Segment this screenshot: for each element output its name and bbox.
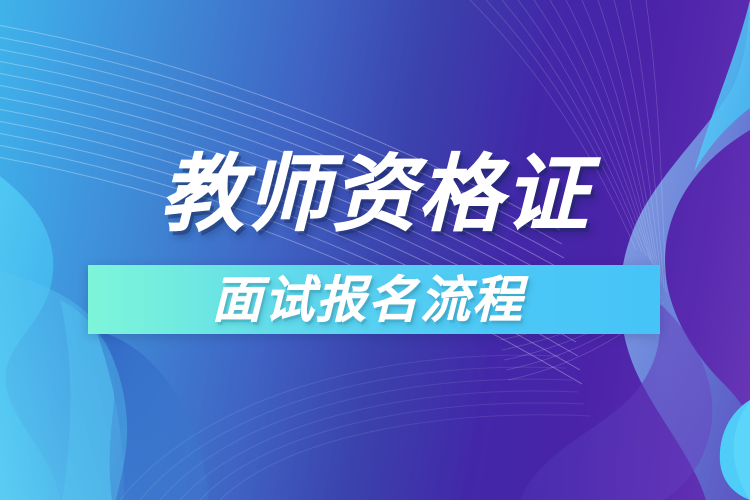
subtitle-bar: 面试报名流程: [88, 265, 660, 334]
subtitle-text: 面试报名流程: [212, 275, 524, 325]
background-waves-right: [0, 0, 750, 500]
background-line-fan-upper: [0, 0, 750, 500]
background-line-fan-right: [0, 0, 750, 500]
headline-text: 教师资格证: [160, 152, 590, 236]
blob-cyan-bottom-right-2: [734, 402, 750, 500]
background-arcs-lower: [0, 0, 750, 500]
background-waves-left: [0, 0, 750, 500]
blob-cyan-bottom-right: [720, 400, 750, 500]
headline-container: 教师资格证: [0, 0, 750, 500]
promo-banner: 面试报名流程 教师资格证: [0, 0, 750, 500]
ribbon-blue-right: [620, 0, 750, 500]
wave-shape-left-cyan: [0, 150, 62, 500]
wave-shape-left-fold: [96, 330, 208, 500]
ribbon-cyan-top-right: [694, 0, 750, 172]
